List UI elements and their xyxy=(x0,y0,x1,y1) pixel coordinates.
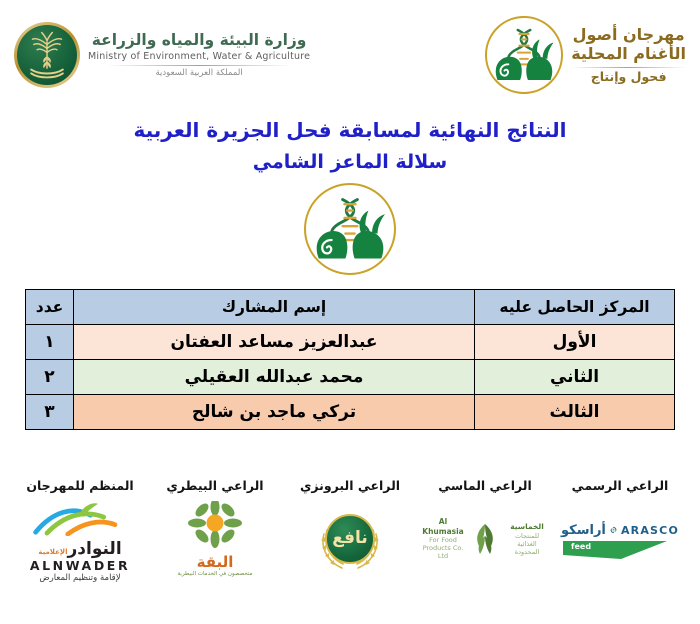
festival-divider xyxy=(571,67,686,68)
festival-line-3: فحول وإنتاج xyxy=(571,70,686,85)
sponsor-organizer: المنظم للمهرجان النوادرالإعلامية ALNWADE… xyxy=(14,478,146,591)
alnwader-brand-en: ALNWADER xyxy=(21,558,139,573)
ministry-kingdom-label: المملكة العربية السعودية xyxy=(88,68,310,78)
sponsor-label: الراعي الرسمي xyxy=(572,478,669,493)
festival-line-1: مهرجان أصول xyxy=(571,26,686,45)
festival-logo: مهرجان أصول الأغنام المحلية فحول وإنتاج xyxy=(485,16,686,94)
nafe-logo-icon: نافع xyxy=(314,497,386,581)
cell-name: محمد عبدالله العقيلي xyxy=(74,360,475,395)
document-titles: النتائج النهائية لمسابقة فحل الجزيرة الع… xyxy=(0,118,700,173)
sponsor-label: الراعي الماسي xyxy=(438,478,532,493)
results-table: المركز الحاصل عليه إسم المشارك عدد الأول… xyxy=(25,289,675,430)
page-title: النتائج النهائية لمسابقة فحل الجزيرة الع… xyxy=(0,118,700,142)
goat-ram-dna-emblem-icon xyxy=(304,183,396,275)
festival-line-2: الأغنام المحلية xyxy=(571,45,686,64)
arasco-logo-icon: ARASCO أراسكو xyxy=(561,497,679,581)
cell-count: ٢ xyxy=(26,360,74,395)
cell-rank: الثالث xyxy=(475,395,675,430)
cell-rank: الأول xyxy=(475,325,675,360)
goat-ram-dna-emblem-icon xyxy=(485,16,563,94)
table-header-row: المركز الحاصل عليه إسم المشارك عدد xyxy=(26,290,675,325)
cell-rank: الثاني xyxy=(475,360,675,395)
sponsors-strip: الراعي الرسمي ARASCO أراسكو xyxy=(0,478,700,624)
arasco-brand-ar: أراسكو xyxy=(561,523,606,538)
alnwader-brand-ar: النوادرالإعلامية xyxy=(21,541,139,558)
sponsor-bronze: الراعي البرونزي xyxy=(284,478,416,581)
ministry-wordmark: وزارة البيئة والمياه والزراعة Ministry o… xyxy=(88,31,310,78)
arasco-brand-en: ARASCO xyxy=(621,524,679,537)
results-table-container: المركز الحاصل عليه إسم المشارك عدد الأول… xyxy=(25,289,675,430)
alnwader-logo-icon: النوادرالإعلامية ALNWADER لإقامة وتنظيم … xyxy=(21,495,139,591)
arasco-feed-text: feed xyxy=(571,542,591,551)
ministry-logo: وزارة البيئة والمياه والزراعة Ministry o… xyxy=(14,22,310,88)
cell-name: عبدالعزيز مساعد العفتان xyxy=(74,325,475,360)
sponsor-label: الراعي البرونزي xyxy=(300,478,400,493)
document-header: مهرجان أصول الأغنام المحلية فحول وإنتاج xyxy=(0,0,700,110)
center-emblem xyxy=(0,183,700,275)
khumasia-text-en: Al Khumasia For Food Products Co. Ltd xyxy=(421,517,465,560)
baqah-brand-ar: البقة xyxy=(169,555,261,570)
sponsor-diamond: الراعي الماسي الخماسية للمنتجات الغذائية… xyxy=(419,478,551,581)
al-khumasia-logo-icon: الخماسية للمنتجات الغذائية المحدودة Al K… xyxy=(421,497,549,581)
ministry-name-arabic: وزارة البيئة والمياه والزراعة xyxy=(88,31,310,50)
sponsor-veterinary: الراعي البيطري البقة xyxy=(149,478,281,581)
column-header-rank: المركز الحاصل عليه xyxy=(475,290,675,325)
page-subtitle: سلالة الماعز الشامي xyxy=(0,151,700,173)
table-row: الثاني محمد عبدالله العقيلي ٢ xyxy=(26,360,675,395)
column-header-count: عدد xyxy=(26,290,74,325)
sponsor-official: الراعي الرسمي ARASCO أراسكو xyxy=(554,478,686,581)
arasco-feed-banner: feed xyxy=(561,539,679,561)
ministry-name-english: Ministry of Environment, Water & Agricul… xyxy=(88,51,310,62)
alnwader-tagline: لإقامة وتنظيم المعارض xyxy=(21,574,139,583)
festival-wordmark: مهرجان أصول الأغنام المحلية فحول وإنتاج xyxy=(571,26,686,85)
column-header-name: إسم المشارك xyxy=(74,290,475,325)
sponsor-label: المنظم للمهرجان xyxy=(26,478,133,493)
ministry-divider xyxy=(106,65,292,66)
cell-name: تركي ماجد بن شالح xyxy=(74,395,475,430)
cell-count: ١ xyxy=(26,325,74,360)
sponsor-label: الراعي البيطري xyxy=(166,478,263,493)
table-row: الأول عبدالعزيز مساعد العفتان ١ xyxy=(26,325,675,360)
nafe-brand-ar: نافع xyxy=(332,528,368,548)
nafe-disc: نافع xyxy=(325,514,375,564)
cell-count: ٣ xyxy=(26,395,74,430)
alnwader-sup: الإعلامية xyxy=(38,548,67,556)
saudi-palm-swords-seal-icon xyxy=(14,22,80,88)
khumasia-text-ar: الخماسية للمنتجات الغذائية المحدودة xyxy=(505,522,549,556)
al-baqah-logo-icon: البقة متخصصون في الخدمات البيطرية xyxy=(169,497,261,581)
table-row: الثالث تركي ماجد بن شالح ٣ xyxy=(26,395,675,430)
baqah-tagline: متخصصون في الخدمات البيطرية xyxy=(169,571,261,577)
